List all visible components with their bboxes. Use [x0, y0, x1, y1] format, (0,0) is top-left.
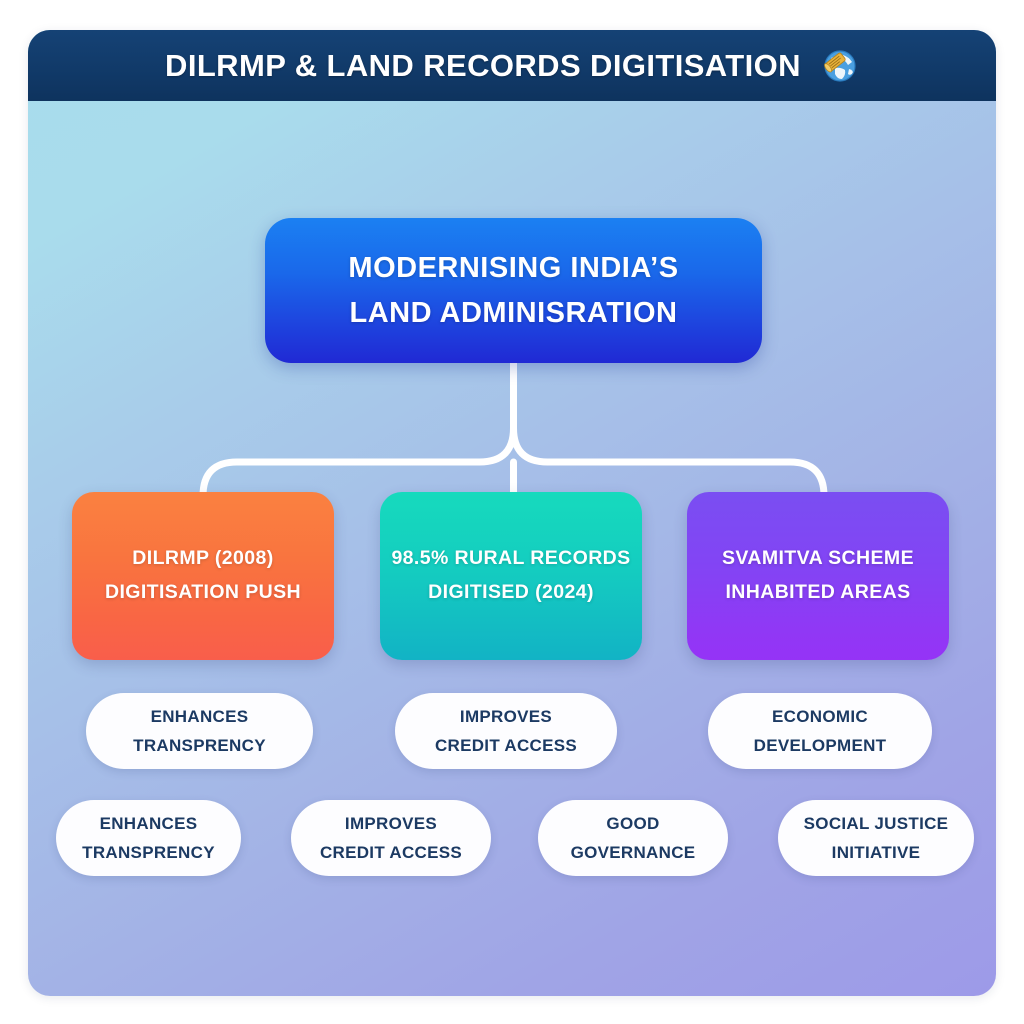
- branch-node-svamitva[interactable]: SVAMITVA SCHEME INHABITED AREAS: [687, 492, 949, 660]
- infographic-card: DILRMP & LAND RECORDS DIGITISATION: [28, 30, 996, 996]
- outcome-pill-enhances-transprency-2[interactable]: ENHANCES TRANSPRENCY: [56, 800, 241, 876]
- branch-node-line-2: DIGITISED (2024): [428, 576, 594, 610]
- pill-line-2: TRANSPRENCY: [82, 838, 215, 867]
- branch-node-line-1: SVAMITVA SCHEME: [722, 542, 914, 576]
- pill-line-1: ECONOMIC: [772, 702, 868, 731]
- root-node-line-1: MODERNISING INDIA’S: [348, 246, 678, 291]
- pill-line-1: ENHANCES: [100, 809, 198, 838]
- branch-node-rural-records[interactable]: 98.5% RURAL RECORDS DIGITISED (2024): [380, 492, 642, 660]
- pill-line-1: ENHANCES: [151, 702, 249, 731]
- branch-node-line-1: DILRMP (2008): [132, 542, 273, 576]
- root-node[interactable]: MODERNISING INDIA’S LAND ADMINISRATION: [265, 218, 762, 363]
- outcome-pill-improves-credit-access-2[interactable]: IMPROVES CREDIT ACCESS: [291, 800, 491, 876]
- pill-line-2: GOVERNANCE: [571, 838, 696, 867]
- pill-line-2: INITIATIVE: [832, 838, 921, 867]
- globe-scroll-icon: [819, 46, 859, 86]
- header-bar: DILRMP & LAND RECORDS DIGITISATION: [28, 30, 996, 101]
- pill-line-1: SOCIAL JUSTICE: [804, 809, 949, 838]
- pill-line-2: CREDIT ACCESS: [320, 838, 462, 867]
- branch-node-line-2: DIGITISATION PUSH: [105, 576, 301, 610]
- outcome-pill-improves-credit-access[interactable]: IMPROVES CREDIT ACCESS: [395, 693, 617, 769]
- pill-line-2: CREDIT ACCESS: [435, 731, 577, 760]
- root-node-line-2: LAND ADMINISRATION: [350, 291, 678, 336]
- pill-line-1: IMPROVES: [460, 702, 552, 731]
- pill-line-1: GOOD: [606, 809, 659, 838]
- branch-node-line-2: INHABITED AREAS: [725, 576, 910, 610]
- outcome-pill-social-justice-initiative[interactable]: SOCIAL JUSTICE INITIATIVE: [778, 800, 974, 876]
- outcome-pill-good-governance[interactable]: GOOD GOVERNANCE: [538, 800, 728, 876]
- branch-node-line-1: 98.5% RURAL RECORDS: [391, 542, 630, 576]
- outcome-pill-enhances-transprency[interactable]: ENHANCES TRANSPRENCY: [86, 693, 313, 769]
- outcome-pill-economic-development[interactable]: ECONOMIC DEVELOPMENT: [708, 693, 932, 769]
- pill-line-2: DEVELOPMENT: [754, 731, 887, 760]
- pill-line-1: IMPROVES: [345, 809, 437, 838]
- pill-line-2: TRANSPRENCY: [133, 731, 266, 760]
- branch-node-dilrmp[interactable]: DILRMP (2008) DIGITISATION PUSH: [72, 492, 334, 660]
- page-title: DILRMP & LAND RECORDS DIGITISATION: [165, 48, 801, 84]
